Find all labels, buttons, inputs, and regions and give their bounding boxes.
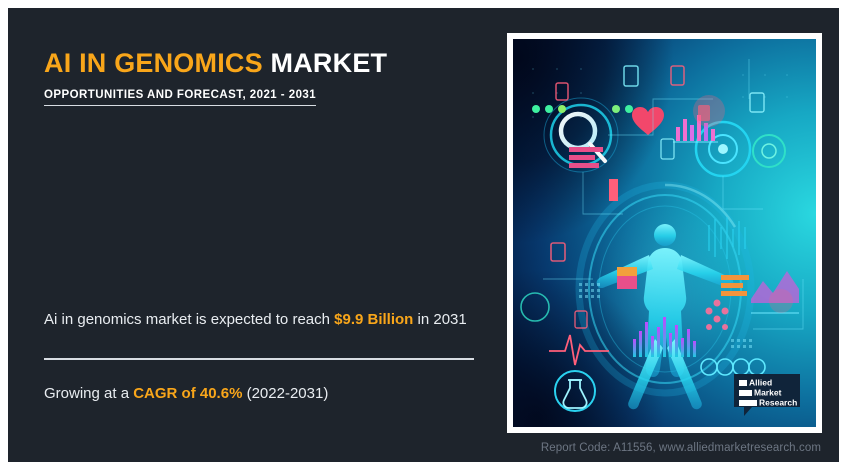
logo-line-2: Market [754,388,782,398]
market-value-suffix: in 2031 [413,311,466,328]
title-highlight: AI IN GENOMICS [44,48,263,78]
stats-divider [44,358,474,360]
spectrum-lines [709,217,745,259]
hero-image-frame: Allied Market Research [507,33,822,433]
flask-icon [555,371,595,411]
title-block: AI IN GENOMICS MARKET OPPORTUNITIES AND … [44,48,484,106]
target-icon-small [753,135,785,167]
stats-block: Ai in genomics market is expected to rea… [44,308,484,405]
cagr-prefix: Growing at a [44,385,133,402]
report-code-text: Report Code: A11556, www.alliedmarketres… [541,442,821,454]
logo-line-1: Allied [749,378,772,388]
hero-graphics [513,39,816,427]
subtitle-underline: OPPORTUNITIES AND FORECAST, 2021 - 2031 [44,89,316,106]
infographic-card: AI IN GENOMICS MARKET OPPORTUNITIES AND … [8,8,839,462]
text-column: AI IN GENOMICS MARKET OPPORTUNITIES AND … [44,8,484,462]
page-subtitle: OPPORTUNITIES AND FORECAST, 2021 - 2031 [44,89,316,101]
logo-graphic: Allied Market Research [732,372,802,418]
allied-market-research-logo: Allied Market Research [732,372,802,418]
heart-icon [632,107,664,135]
cagr-suffix: (2022-2031) [242,385,328,402]
logo-line-3: Research [759,398,797,408]
cagr-statement: Growing at a CAGR of 40.6% (2022-2031) [44,382,484,405]
market-value-figure: $9.9 Billion [334,311,413,328]
cagr-figure: CAGR of 40.6% [133,385,242,402]
title-rest: MARKET [263,48,387,78]
market-value-prefix: Ai in genomics market is expected to rea… [44,311,334,328]
market-value-statement: Ai in genomics market is expected to rea… [44,308,484,331]
search-icon [544,98,618,172]
footer: Report Code: A11556, www.alliedmarketres… [8,438,839,456]
hero-image: Allied Market Research [513,39,816,427]
page-title: AI IN GENOMICS MARKET [44,48,484,79]
